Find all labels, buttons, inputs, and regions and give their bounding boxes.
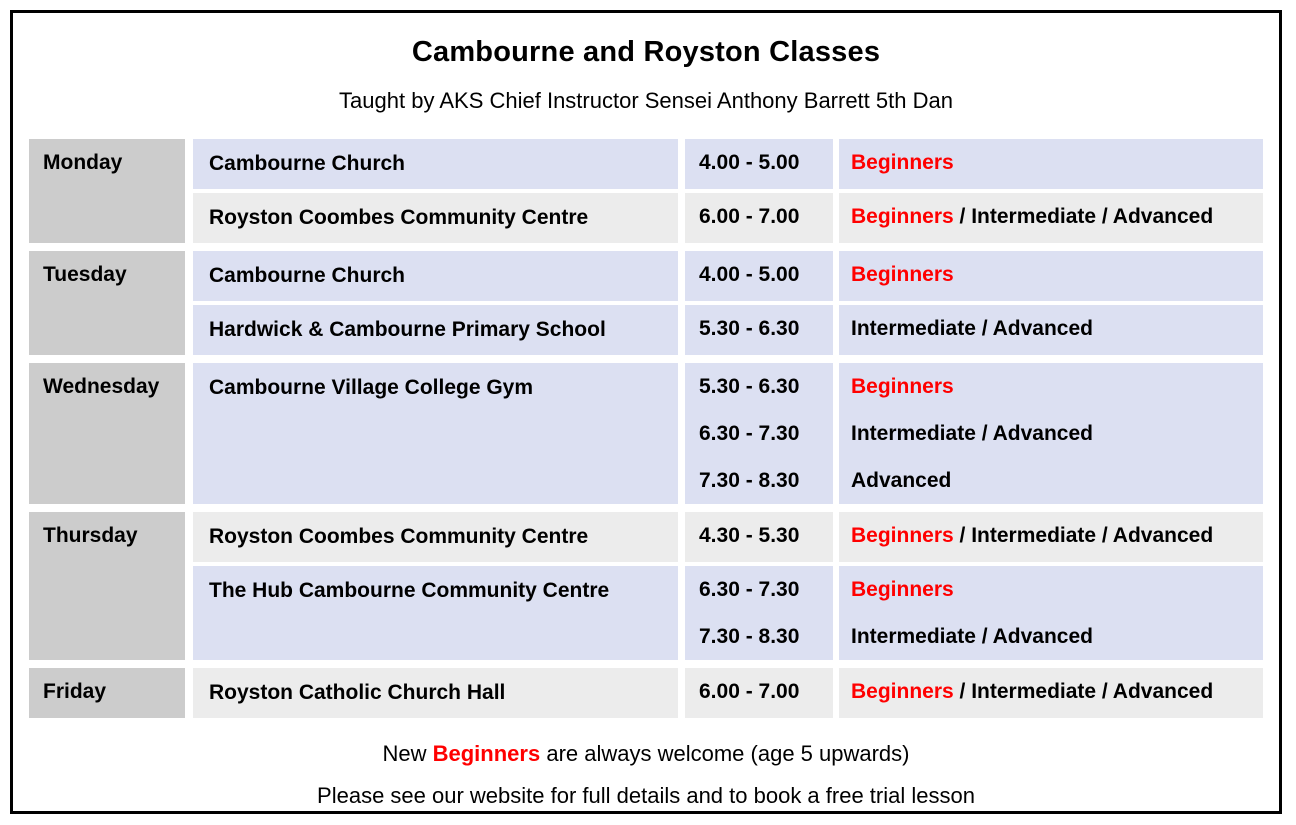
level-label: Beginners / Intermediate / Advanced [851,525,1263,546]
day-sessions: Cambourne Church4.00 - 5.00BeginnersHard… [193,251,1263,355]
footer-line-beginners-welcome: New Beginners are always welcome (age 5 … [29,740,1263,768]
time-slot: 6.00 - 7.00 [699,681,833,702]
level-other-grades: Intermediate / Advanced [851,317,1093,340]
session-row: Hardwick & Cambourne Primary School5.30 … [193,305,1263,355]
day-group: MondayCambourne Church4.00 - 5.00Beginne… [29,139,1263,243]
time-slot: 7.30 - 8.30 [699,470,833,491]
venue-cell: Cambourne Village College Gym [193,363,678,504]
time-slot: 6.00 - 7.00 [699,206,833,227]
time-slot: 5.30 - 6.30 [699,318,833,339]
level-cell: Beginners / Intermediate / Advanced [839,193,1263,243]
day-group: WednesdayCambourne Village College Gym5.… [29,363,1263,504]
session-row: Cambourne Village College Gym5.30 - 6.30… [193,363,1263,504]
time-cell: 6.00 - 7.00 [685,668,833,718]
time-cell: 6.30 - 7.307.30 - 8.30 [685,566,833,660]
level-beginners-highlight: Beginners [851,578,954,601]
level-label: Beginners / Intermediate / Advanced [851,206,1263,227]
level-label: Beginners [851,152,1263,173]
footer-beginners-highlight: Beginners [433,741,541,766]
venue-cell: Cambourne Church [193,251,678,301]
level-other-grades: Intermediate / Advanced [851,625,1093,648]
day-sessions: Royston Catholic Church Hall6.00 - 7.00B… [193,668,1263,718]
session-row: Royston Coombes Community Centre4.30 - 5… [193,512,1263,562]
venue-cell: Hardwick & Cambourne Primary School [193,305,678,355]
level-other-grades: Intermediate / Advanced [851,422,1093,445]
venue-cell: Royston Coombes Community Centre [193,512,678,562]
level-label: Intermediate / Advanced [851,318,1263,339]
footer-line-website-note: Please see our website for full details … [29,782,1263,810]
level-cell: BeginnersIntermediate / AdvancedAdvanced [839,363,1263,504]
level-cell: Beginners [839,139,1263,189]
time-cell: 4.00 - 5.00 [685,139,833,189]
level-cell: Intermediate / Advanced [839,305,1263,355]
time-slot: 4.00 - 5.00 [699,152,833,173]
day-group: TuesdayCambourne Church4.00 - 5.00Beginn… [29,251,1263,355]
day-sessions: Royston Coombes Community Centre4.30 - 5… [193,512,1263,660]
session-row: Cambourne Church4.00 - 5.00Beginners [193,251,1263,301]
level-cell: Beginners [839,251,1263,301]
level-cell: BeginnersIntermediate / Advanced [839,566,1263,660]
level-other-grades: / Intermediate / Advanced [954,680,1213,703]
time-slot: 6.30 - 7.30 [699,423,833,444]
time-slot: 6.30 - 7.30 [699,579,833,600]
level-label: Intermediate / Advanced [851,626,1263,647]
time-cell: 4.30 - 5.30 [685,512,833,562]
time-slot: 5.30 - 6.30 [699,376,833,397]
time-cell: 5.30 - 6.306.30 - 7.307.30 - 8.30 [685,363,833,504]
poster-footer: New Beginners are always welcome (age 5 … [29,740,1263,809]
level-beginners-highlight: Beginners [851,680,954,703]
level-beginners-highlight: Beginners [851,205,954,228]
level-other-grades: / Intermediate / Advanced [954,524,1213,547]
page-subtitle: Taught by AKS Chief Instructor Sensei An… [29,88,1263,114]
day-label-cell: Tuesday [29,251,185,355]
day-label-cell: Thursday [29,512,185,660]
day-label-cell: Monday [29,139,185,243]
day-sessions: Cambourne Village College Gym5.30 - 6.30… [193,363,1263,504]
level-cell: Beginners / Intermediate / Advanced [839,512,1263,562]
venue-cell: Royston Coombes Community Centre [193,193,678,243]
day-group: FridayRoyston Catholic Church Hall6.00 -… [29,668,1263,718]
page-title: Cambourne and Royston Classes [29,35,1263,70]
venue-cell: The Hub Cambourne Community Centre [193,566,678,660]
day-label-cell: Wednesday [29,363,185,504]
level-label: Beginners [851,579,1263,600]
session-row: The Hub Cambourne Community Centre6.30 -… [193,566,1263,660]
level-other-grades: / Intermediate / Advanced [954,205,1213,228]
level-label: Intermediate / Advanced [851,423,1263,444]
session-row: Cambourne Church4.00 - 5.00Beginners [193,139,1263,189]
level-label: Beginners [851,376,1263,397]
level-beginners-highlight: Beginners [851,151,954,174]
level-beginners-highlight: Beginners [851,524,954,547]
time-cell: 6.00 - 7.00 [685,193,833,243]
footer-text-pre: New [383,741,433,766]
time-slot: 4.00 - 5.00 [699,264,833,285]
venue-cell: Royston Catholic Church Hall [193,668,678,718]
venue-cell: Cambourne Church [193,139,678,189]
level-beginners-highlight: Beginners [851,263,954,286]
level-label: Beginners [851,264,1263,285]
level-other-grades: Advanced [851,469,951,492]
class-timetable-poster: Cambourne and Royston Classes Taught by … [10,10,1282,814]
day-sessions: Cambourne Church4.00 - 5.00BeginnersRoys… [193,139,1263,243]
time-cell: 4.00 - 5.00 [685,251,833,301]
time-slot: 4.30 - 5.30 [699,525,833,546]
time-slot: 7.30 - 8.30 [699,626,833,647]
day-label-cell: Friday [29,668,185,718]
level-beginners-highlight: Beginners [851,375,954,398]
level-label: Beginners / Intermediate / Advanced [851,681,1263,702]
level-cell: Beginners / Intermediate / Advanced [839,668,1263,718]
footer-text-post: are always welcome (age 5 upwards) [540,741,909,766]
time-cell: 5.30 - 6.30 [685,305,833,355]
day-group: ThursdayRoyston Coombes Community Centre… [29,512,1263,660]
schedule-table: MondayCambourne Church4.00 - 5.00Beginne… [29,139,1263,718]
session-row: Royston Catholic Church Hall6.00 - 7.00B… [193,668,1263,718]
level-label: Advanced [851,470,1263,491]
session-row: Royston Coombes Community Centre6.00 - 7… [193,193,1263,243]
